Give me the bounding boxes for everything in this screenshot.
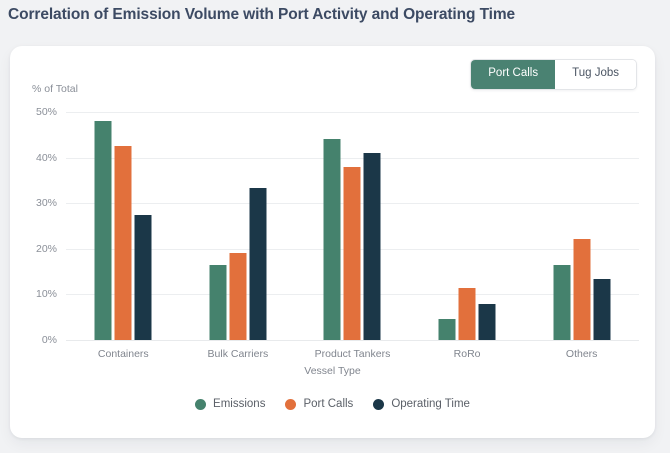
chart-legend: EmissionsPort CallsOperating Time [10,398,655,410]
bar-operating-time[interactable] [135,215,152,340]
bar-port-calls[interactable] [229,253,246,340]
y-axis-tick-label: 50% [36,106,57,118]
x-axis-tick-label: Containers [98,348,149,360]
x-axis-tick-label: Others [566,348,598,360]
legend-label: Port Calls [303,398,353,410]
bar-operating-time[interactable] [249,188,266,340]
legend-label: Operating Time [391,398,470,410]
bar-port-calls[interactable] [573,239,590,340]
toggle-port-calls[interactable]: Port Calls [471,60,555,89]
bar-set [324,112,381,340]
bar-emissions[interactable] [209,265,226,340]
bar-group: Product Tankers [295,112,410,340]
bar-port-calls[interactable] [115,146,132,340]
bar-port-calls[interactable] [459,288,476,340]
toggle-tug-jobs[interactable]: Tug Jobs [555,60,636,89]
bar-set [95,112,152,340]
bar-emissions[interactable] [553,265,570,340]
bar-operating-time[interactable] [479,304,496,340]
page-title: Correlation of Emission Volume with Port… [8,6,515,24]
bar-emissions[interactable] [324,139,341,340]
legend-item-emissions[interactable]: Emissions [195,398,265,410]
bar-emissions[interactable] [439,319,456,340]
chart-page: Correlation of Emission Volume with Port… [0,0,670,453]
x-axis-tick-label: Product Tankers [315,348,391,360]
bar-operating-time[interactable] [593,279,610,340]
bar-set [439,112,496,340]
legend-item-port-calls[interactable]: Port Calls [285,398,353,410]
bar-group: Others [524,112,639,340]
plot-area: 0%10%20%30%40%50% ContainersBulk Carrier… [66,112,639,340]
bar-set [209,112,266,340]
y-axis-tick-label: 10% [36,288,57,300]
gridline: 0% [66,340,639,341]
y-axis-tick-label: 20% [36,243,57,255]
bar-operating-time[interactable] [364,153,381,340]
bar-set [553,112,610,340]
legend-swatch-icon [195,399,206,410]
metric-toggle-group[interactable]: Port Calls Tug Jobs [470,59,637,90]
bar-group: Containers [66,112,181,340]
legend-item-operating-time[interactable]: Operating Time [373,398,470,410]
bar-groups: ContainersBulk CarriersProduct TankersRo… [66,112,639,340]
x-axis-tick-label: Bulk Carriers [208,348,269,360]
chart-card: Port Calls Tug Jobs % of Total 0%10%20%3… [10,46,655,438]
legend-label: Emissions [213,398,265,410]
bar-port-calls[interactable] [344,167,361,340]
bar-group: Bulk Carriers [181,112,296,340]
x-axis-title: Vessel Type [10,365,655,377]
y-axis-tick-label: 30% [36,197,57,209]
y-axis-title: % of Total [32,83,78,95]
bar-group: RoRo [410,112,525,340]
bar-emissions[interactable] [95,121,112,340]
legend-swatch-icon [373,399,384,410]
x-axis-tick-label: RoRo [454,348,481,360]
y-axis-tick-label: 40% [36,152,57,164]
legend-swatch-icon [285,399,296,410]
y-axis-tick-label: 0% [42,334,57,346]
